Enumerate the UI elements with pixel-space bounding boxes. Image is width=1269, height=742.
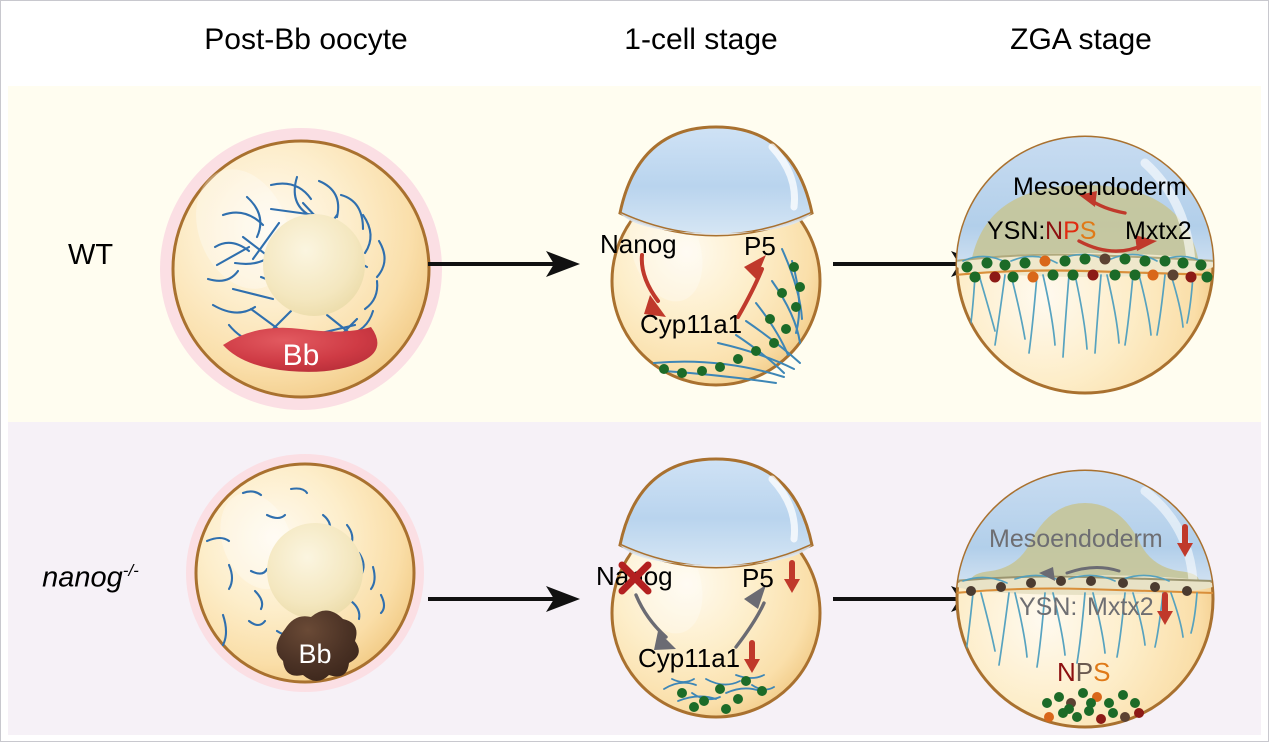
panel-mutant-zga-stage: Mesoendoderm YSN: Mxtx2 NPS: [949, 463, 1221, 735]
label-p5: P5: [742, 563, 774, 593]
oocyte-nucleus: [263, 214, 365, 316]
label-ysn-prefix: YSN:: [1019, 593, 1077, 621]
balbiani-body-label: Bb: [298, 639, 331, 669]
panel-wt-post-bb-oocyte: Bb: [151, 119, 451, 419]
label-cyp11a1: Cyp11a1: [640, 309, 742, 339]
transition-arrow-mutant-1: [426, 579, 586, 619]
panel-wt-one-cell-stage: Nanog Cyp11a1 P5: [586, 121, 846, 391]
balbiani-body-label: Bb: [283, 339, 320, 372]
nps-letter-p: P: [1063, 217, 1080, 245]
column-header-post-bb-oocyte: Post-Bb oocyte: [161, 23, 451, 57]
panel-wt-zga-stage: Mesoendoderm YSN: NPS Mxtx2: [949, 129, 1221, 401]
nps-letter-n: N: [1057, 657, 1076, 687]
label-mesoendoderm: Mesoendoderm: [1013, 173, 1187, 201]
row-label-nanog-null: nanog-/-: [13, 561, 168, 595]
figure-root: Post-Bb oocyte 1-cell stage ZGA stage WT…: [0, 0, 1269, 742]
label-ysn-prefix: YSN:: [987, 217, 1045, 245]
nps-letter-s: S: [1080, 217, 1097, 245]
label-mesoendoderm: Mesoendoderm: [989, 525, 1163, 553]
row-label-gene: nanog: [42, 562, 123, 594]
row-label-superscript: -/-: [123, 561, 139, 580]
row-label-wt: WT: [23, 239, 158, 272]
column-header-one-cell-stage: 1-cell stage: [556, 23, 846, 57]
label-cyp11a1: Cyp11a1: [638, 643, 740, 673]
column-header-zga-stage: ZGA stage: [936, 23, 1226, 57]
nps-letter-p: P: [1076, 657, 1093, 687]
label-mxtx2: Mxtx2: [1087, 593, 1154, 621]
transition-arrow-wt-1: [426, 244, 586, 284]
nps-letter-s: S: [1093, 657, 1110, 687]
panel-mutant-post-bb-oocyte: Bb: [181, 449, 429, 697]
blastodisc-cap: [620, 459, 812, 567]
label-mxtx2: Mxtx2: [1125, 217, 1192, 245]
label-p5: P5: [744, 231, 776, 261]
panel-mutant-one-cell-stage: Nanog Cyp11a1 P5: [586, 453, 846, 723]
label-nanog: Nanog: [600, 229, 677, 259]
oocyte-nucleus: [267, 523, 363, 619]
label-nps: NPS: [1057, 657, 1110, 687]
blastodisc-cap: [620, 127, 812, 235]
nps-letter-n: N: [1045, 217, 1063, 245]
label-nps: NPS: [1045, 217, 1096, 245]
